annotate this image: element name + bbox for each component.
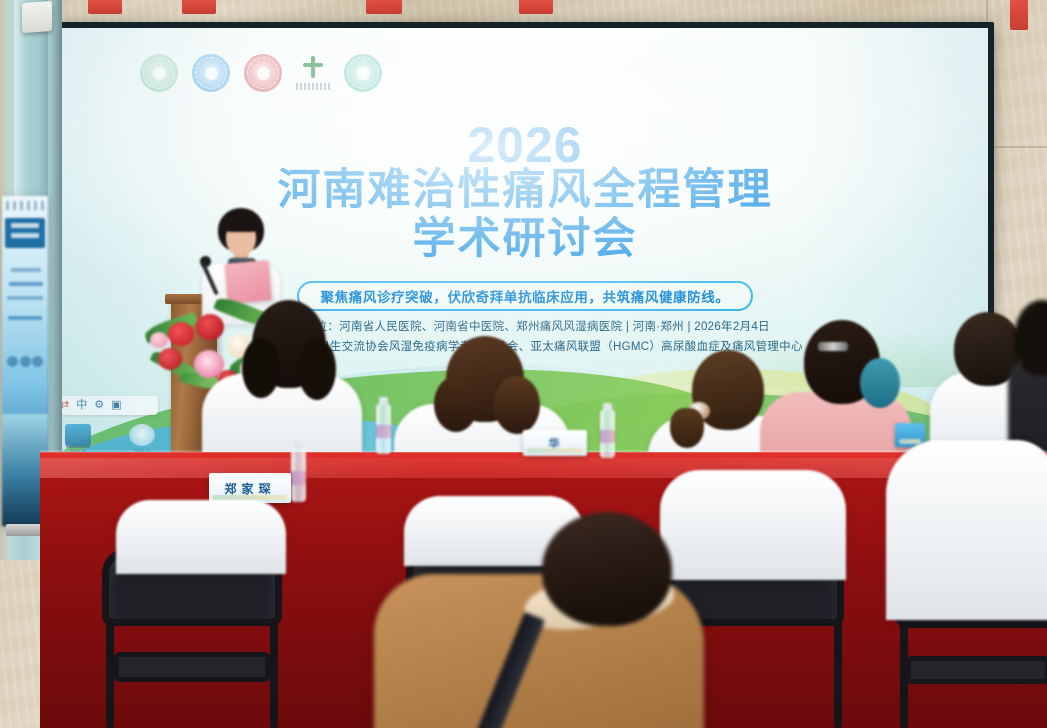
bottle-label <box>376 425 391 438</box>
foreground-head <box>542 512 672 626</box>
green-cross-emblem-icon <box>296 54 330 92</box>
water-bottle <box>291 448 306 502</box>
bottle-label <box>291 471 306 485</box>
red-university-emblem-icon <box>244 54 282 92</box>
chair-leg <box>106 618 114 728</box>
name-card-front: 郑家琛 <box>209 473 291 503</box>
teal-hospital-emblem-icon <box>344 54 382 92</box>
attendee-foreground <box>374 512 724 728</box>
banner-text-line <box>8 316 42 320</box>
slide-title-line-1: 河南难治性痛风全程管理 <box>278 166 773 214</box>
bottle-cap <box>379 397 388 405</box>
red-flower <box>158 348 182 370</box>
chair-leg <box>900 620 908 728</box>
water-bottle <box>600 410 615 458</box>
slide-logo-row <box>140 54 382 92</box>
bottle-label <box>600 430 615 442</box>
wall-speaker-icon <box>22 1 52 33</box>
banner-text-line <box>9 282 43 286</box>
ime-panel-icon[interactable]: ▣ <box>111 400 121 411</box>
banner-headline-band <box>5 218 45 248</box>
bottle-cap <box>603 403 612 411</box>
banner-header-text <box>6 201 44 210</box>
attendee-3-ponytail <box>670 408 704 448</box>
slide-tagline: 聚焦痛风诊疗突破，伏欣奇拜单抗临床应用，共筑痛风健康防线。 <box>297 281 754 311</box>
chair-leg <box>834 618 842 728</box>
wall-placard <box>366 0 402 14</box>
attendee-1-hair-right <box>298 338 336 400</box>
attendee-4-teal-streak <box>860 358 900 408</box>
wall-placard <box>182 0 216 14</box>
name-card-middle: 华 <box>523 430 587 456</box>
green-medical-emblem-icon <box>140 54 178 92</box>
chair-seat <box>906 656 1047 684</box>
conference-photo: 2026 河南难治性痛风全程管理 学术研讨会 聚焦痛风诊疗突破，伏欣奇拜单抗临床… <box>0 0 1047 728</box>
computer-glyph <box>65 424 91 446</box>
attendee-seated-far-right-coat <box>886 440 1047 620</box>
chair-seat <box>114 652 270 682</box>
red-flower <box>168 322 194 346</box>
chinese-mode-icon[interactable]: 中 <box>76 400 87 411</box>
attendee-seated-left-coat <box>116 500 286 574</box>
wall-placard <box>88 0 122 14</box>
recycle-bin-glyph <box>129 424 155 446</box>
pink-flower <box>150 332 168 348</box>
presenter-hair-front <box>220 214 262 232</box>
banner-text-line <box>11 268 41 272</box>
banner-text-line <box>7 296 43 300</box>
bottle-cap <box>294 441 303 449</box>
attendee-seated-left <box>116 500 286 574</box>
wall-placard <box>1010 0 1028 30</box>
attendee-4-hair-clip <box>818 342 848 351</box>
blue-globe-emblem-icon <box>192 54 230 92</box>
attendee-2-hair-wave-left <box>434 376 478 432</box>
wall-seam-horizontal <box>986 146 1047 148</box>
attendee-seated-far-right <box>886 440 1047 620</box>
ime-switch-icon[interactable]: ⇄ <box>62 400 69 411</box>
ime-tools-icon[interactable]: ⚙ <box>94 400 104 411</box>
chair-leg <box>270 618 278 728</box>
folding-chair <box>92 548 292 728</box>
attendee-1-hair-left <box>242 338 280 398</box>
attendee-2-hair-wave-right <box>494 376 540 434</box>
water-bottle <box>376 404 391 454</box>
banner-icon-row <box>7 356 43 367</box>
banner-stand <box>6 524 44 536</box>
wall-placard <box>519 0 553 14</box>
